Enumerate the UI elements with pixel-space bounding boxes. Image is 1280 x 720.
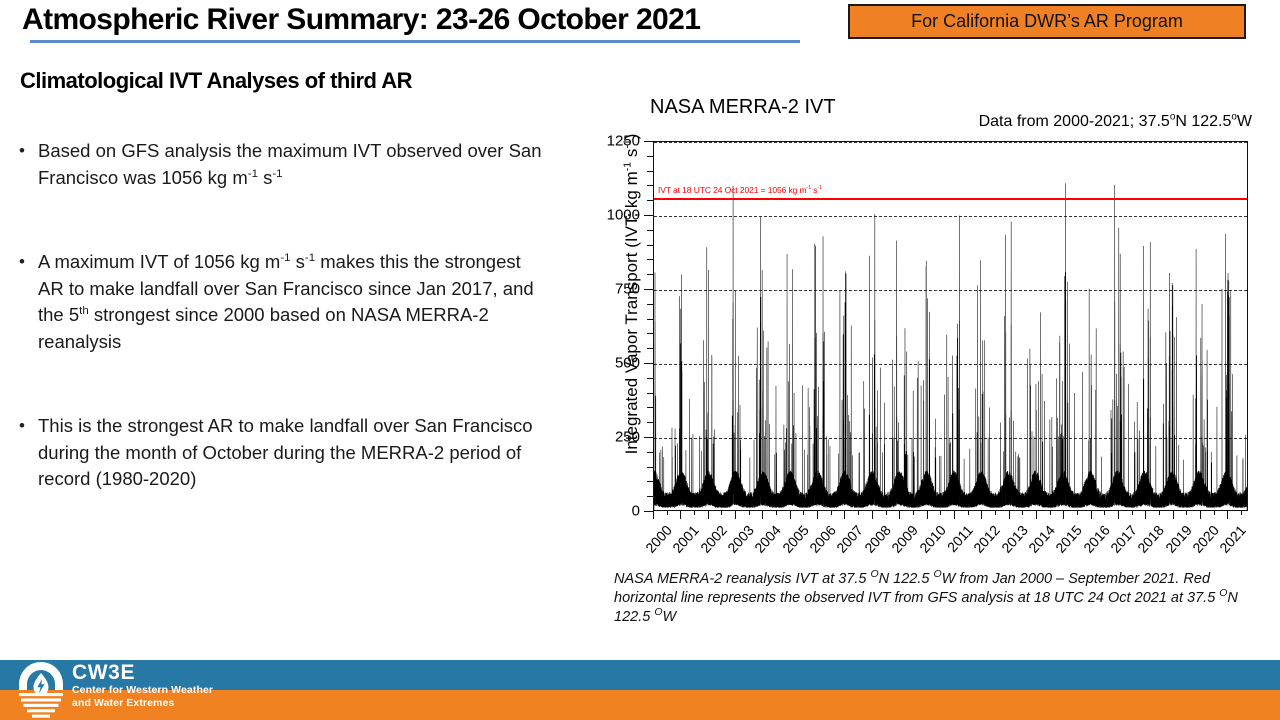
y-axis-tick-minor [647,452,653,453]
text-run: strongest since 2000 based on NASA MERRA… [38,304,489,352]
x-axis-tick-label: 2016 [1080,522,1113,556]
superscript: -1 [817,186,821,192]
x-axis-tick-minor [968,511,969,515]
title-underline-rule [30,40,800,43]
plot-wrapper: IVT at 18 UTC 24 Oct 2021 = 1056 kg m-1 … [653,141,1248,511]
superscript: -1 [280,252,290,264]
x-axis-tick-minor [940,511,941,515]
x-axis-tick [817,511,818,519]
chart-subtitle-part-b: N 122.5 [1175,113,1231,130]
bullet-item: •A maximum IVT of 1056 kg m-1 s-1 makes … [16,249,546,355]
bullet-text: This is the strongest AR to make landfal… [38,413,546,493]
x-axis-tick-minor [1214,511,1215,515]
y-axis-label-part-b: s [622,149,641,162]
bullet-text: Based on GFS analysis the maximum IVT ob… [38,138,546,191]
x-axis-tick-minor [1241,511,1242,515]
plot-area: IVT at 18 UTC 24 Oct 2021 = 1056 kg m-1 … [653,141,1248,511]
x-axis-tick [708,511,709,519]
x-axis-tick [1036,511,1037,519]
cw3e-tagline-line-2: and Water Extremes [72,697,332,710]
x-axis-tick-minor [1050,511,1051,515]
bullet-marker-icon: • [16,138,38,164]
x-axis-tick-label: 2014 [1025,522,1058,556]
y-axis-tick-minor [647,274,653,275]
y-axis-tick-major [644,289,653,290]
cw3e-logo-text: CW3E Center for Western Weather and Wate… [72,661,332,710]
y-axis-tick-minor [647,481,653,482]
y-axis-tick-label: 500 [615,355,640,372]
x-axis-tick-minor [667,511,668,515]
chart-subtitle: Data from 2000-2021; 37.5oN 122.5oW [979,113,1252,131]
caption-line3-c: W [662,609,676,625]
x-axis-tick-label: 2011 [944,522,976,555]
ivt-timeseries-svg [654,142,1247,510]
caption-line1-a: NASA MERRA-2 reanalysis IVT at 37.5 [614,571,871,587]
x-axis-tick [653,511,654,519]
x-axis-tick-label: 2007 [834,522,867,556]
y-axis-tick-minor [647,185,653,186]
bullet-list: •Based on GFS analysis the maximum IVT o… [16,138,546,551]
chart-title: NASA MERRA-2 IVT [650,96,836,119]
y-axis-tick-major [644,215,653,216]
chart-subtitle-part-a: Data from 2000-2021; 37.5 [979,113,1170,130]
x-axis-tick-label: 2008 [861,522,894,556]
x-axis-tick-label: 2002 [697,522,730,556]
x-axis-tick-label: 2018 [1135,522,1168,556]
x-axis-tick-minor [1159,511,1160,515]
x-axis-tick-minor [1022,511,1023,515]
x-axis-tick-label: 2013 [998,522,1031,556]
caption-line1-c: W from Jan 2000 – September 2021. [942,571,1180,587]
y-axis-tick-minor [647,378,653,379]
y-axis-tick-minor [647,393,653,394]
y-axis-tick-label: 250 [615,429,640,446]
x-axis-tick-label: 2021 [1217,522,1250,556]
dwr-program-banner-label: For California DWR’s AR Program [911,11,1183,32]
y-axis-tick-label: 1250 [607,133,640,150]
y-axis-tick-minor [647,245,653,246]
caption-line1-b: N 122.5 [879,571,934,587]
x-axis-tick-minor [694,511,695,515]
x-axis-tick [790,511,791,519]
x-axis-tick [954,511,955,519]
text-run: IVT at 18 UTC 24 Oct 2021 = 1056 kg m [658,185,807,195]
caption-degree-2: O [933,569,941,580]
x-axis-tick-label: 2001 [669,522,702,556]
y-axis-tick-label: 750 [615,281,640,298]
x-axis-tick-minor [721,511,722,515]
x-axis-tick [1063,511,1064,519]
x-axis-tick [1227,511,1228,519]
x-axis-tick-minor [1132,511,1133,515]
x-axis-tick-minor [1077,511,1078,515]
bullet-item: •Based on GFS analysis the maximum IVT o… [16,138,546,191]
x-axis-tick-label: 2004 [752,522,785,556]
x-axis-tick-minor [995,511,996,515]
y-axis-tick-minor [647,467,653,468]
bullet-marker-icon: • [16,413,38,439]
y-axis-tick-minor [647,319,653,320]
y-axis-tick-minor [647,333,653,334]
y-axis-tick-minor [647,496,653,497]
x-axis-tick-label: 2006 [806,522,839,556]
x-axis-tick-minor [1104,511,1105,515]
x-axis-tick-minor [803,511,804,515]
cw3e-tagline-line-1: Center for Western Weather [72,684,332,697]
text-run: A maximum IVT of 1056 kg m [38,251,280,272]
page-title: Atmospheric River Summary: 23-26 October… [22,2,812,38]
x-axis-tick-label: 2015 [1052,522,1085,556]
caption-line3-a: 2021 at 37.5 [1135,590,1220,606]
bullet-text: A maximum IVT of 1056 kg m-1 s-1 makes t… [38,249,546,355]
y-axis-tick-major [644,141,653,142]
x-axis-tick-label: 2017 [1107,522,1140,556]
y-axis-tick-major [644,363,653,364]
text-run: s [258,167,272,188]
y-axis-tick-minor [647,200,653,201]
x-axis-tick-minor [1186,511,1187,515]
x-axis-tick [1145,511,1146,519]
dwr-program-banner: For California DWR’s AR Program [848,4,1246,39]
x-axis-tick [735,511,736,519]
x-axis-tick-minor [913,511,914,515]
bullet-item: •This is the strongest AR to make landfa… [16,413,546,493]
y-axis-tick-minor [647,259,653,260]
y-axis-tick-label: 1000 [607,207,640,224]
y-axis-tick-minor [647,407,653,408]
x-axis-tick-minor [749,511,750,515]
x-axis-tick [872,511,873,519]
x-axis-tick-label: 2012 [970,522,1003,556]
x-axis-tick-minor [776,511,777,515]
x-axis-tick-label: 2005 [779,522,812,556]
chart-subtitle-part-c: W [1237,113,1252,130]
y-axis-exponent-1: -1 [621,162,633,171]
y-axis-tick-minor [647,304,653,305]
x-axis-tick [1173,511,1174,519]
text-run: Based on GFS analysis the maximum IVT ob… [38,140,542,188]
x-axis-tick-label: 2010 [916,522,949,556]
section-subtitle: Climatological IVT Analyses of third AR [20,68,412,94]
x-axis-tick [680,511,681,519]
y-axis-tick-minor [647,156,653,157]
x-axis-tick-label: 2009 [888,522,921,556]
y-axis-tick-label: 0 [632,503,640,520]
observed-ivt-threshold-label: IVT at 18 UTC 24 Oct 2021 = 1056 kg m-1 … [658,185,822,195]
figure-caption: NASA MERRA-2 reanalysis IVT at 37.5 ON 1… [614,570,1249,627]
x-axis-tick-label: 2020 [1189,522,1222,556]
x-axis-tick-label: 2003 [724,522,757,556]
x-axis-tick [1118,511,1119,519]
bullet-marker-icon: • [16,249,38,275]
superscript: th [79,305,89,317]
text-run: s [291,251,305,272]
x-axis-tick [927,511,928,519]
x-axis-tick [1091,511,1092,519]
text-run: This is the strongest AR to make landfal… [38,415,533,489]
x-axis-tick [1009,511,1010,519]
x-axis-tick-label: 2019 [1162,522,1195,556]
chart-figure: NASA MERRA-2 IVT Data from 2000-2021; 37… [562,92,1274,632]
x-axis-tick-minor [886,511,887,515]
cw3e-logo-icon [10,656,72,720]
y-axis-tick-major [644,511,653,512]
x-axis-tick [899,511,900,519]
superscript: -1 [305,252,315,264]
superscript: -1 [248,167,258,179]
cw3e-brand-name: CW3E [72,661,332,684]
observed-ivt-threshold-line [654,198,1247,200]
y-axis-tick-minor [647,171,653,172]
x-axis-tick-minor [831,511,832,515]
y-axis-tick-minor [647,422,653,423]
x-axis-tick [981,511,982,519]
y-axis-tick-minor [647,230,653,231]
ivt-trace [654,183,1247,510]
x-axis-tick [844,511,845,519]
x-axis-tick [1200,511,1201,519]
x-axis-tick-label: 2000 [642,522,675,556]
caption-degree-1: O [871,569,879,580]
x-axis-tick-minor [858,511,859,515]
x-axis-tick [762,511,763,519]
y-axis-tick-major [644,437,653,438]
superscript: -1 [272,167,282,179]
y-axis-tick-minor [647,348,653,349]
